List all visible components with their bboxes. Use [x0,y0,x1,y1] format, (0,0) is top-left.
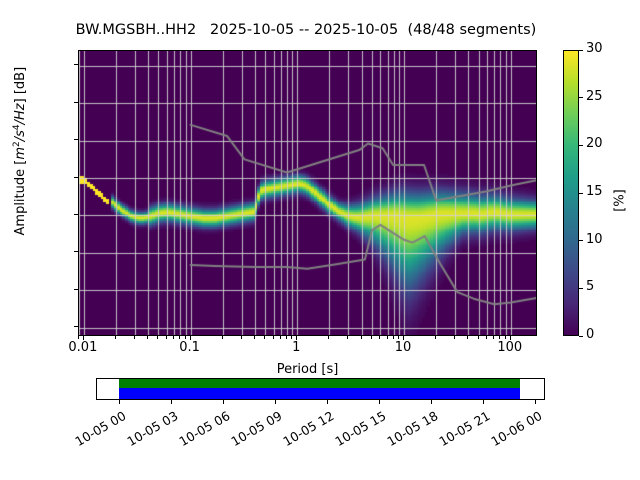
x-axis-minor-tick-mark [347,336,348,339]
x-axis-minor-tick-mark [185,336,186,339]
x-axis-minor-tick-mark [499,336,500,339]
x-axis-label: Period [s] [78,362,537,377]
colorbar-tick-label: 5 [586,279,594,294]
timeline-tick-mark [431,400,432,404]
x-axis-minor-tick-mark [280,336,281,339]
timeline-tick-mark [171,400,172,404]
timeline-segment-psd-coverage[interactable] [119,388,520,399]
x-axis-minor-tick-mark [134,336,135,339]
x-axis-minor-tick-mark [78,336,79,339]
x-axis-minor-tick-mark [371,336,372,339]
y-axis-tick-mark [74,102,78,103]
y-axis-tick-mark [74,177,78,178]
x-axis-tick-label: 0.1 [179,340,200,355]
x-axis-minor-tick-mark [493,336,494,339]
x-axis-minor-tick-mark [222,336,223,339]
timeline-tick-mark [379,400,380,404]
colorbar-tick-mark [579,193,583,194]
timeline-tick-mark [119,400,120,404]
colorbar-tick-label: 20 [586,136,603,151]
x-axis-minor-tick-mark [361,336,362,339]
x-axis-tick-label: 10 [395,340,412,355]
x-axis-minor-tick-mark [157,336,158,339]
colorbar-label: [%] [613,151,628,251]
y-axis-tick-mark [74,289,78,290]
x-axis-minor-tick-mark [435,336,436,339]
colorbar-tick-mark [579,50,583,51]
y-axis-label: Amplitude [m2/s4/Hz] [dB] [12,8,28,294]
timeline-coverage-bar[interactable] [96,378,545,400]
x-axis-minor-tick-mark [398,336,399,339]
colorbar-tick-label: 0 [586,327,594,342]
x-axis-minor-tick-mark [328,336,329,339]
colorbar-tick-label: 10 [586,232,603,247]
x-axis-minor-tick-mark [179,336,180,339]
x-axis-minor-tick-mark [166,336,167,339]
figure-canvas: BW.MGSBH..HH2 2025-10-05 -- 2025-10-05 (… [0,0,640,480]
timeline-tick-mark [223,400,224,404]
x-axis-minor-tick-mark [264,336,265,339]
x-axis-minor-tick-mark [241,336,242,339]
y-axis-tick-mark [74,326,78,327]
x-axis-minor-tick-mark [486,336,487,339]
timeline-tick-mark [483,400,484,404]
colorbar-tick-mark [579,288,583,289]
colorbar-tick-mark [579,240,583,241]
colorbar-tick-mark [579,145,583,146]
timeline-tick-mark [535,400,536,404]
x-axis-minor-tick-mark [173,336,174,339]
y-axis-tick-mark [74,214,78,215]
x-axis-minor-tick-mark [273,336,274,339]
colorbar-tick-label: 25 [586,89,603,104]
x-axis-minor-tick-mark [286,336,287,339]
y-axis-tick-mark [74,139,78,140]
x-axis-minor-tick-mark [505,336,506,339]
timeline-segment-data-coverage[interactable] [119,379,520,388]
page-title: BW.MGSBH..HH2 2025-10-05 -- 2025-10-05 (… [0,22,612,38]
x-axis-minor-tick-mark [393,336,394,339]
x-axis-minor-tick-mark [478,336,479,339]
x-axis-minor-tick-mark [379,336,380,339]
colorbar [563,50,579,336]
colorbar-tick-label: 15 [586,184,603,199]
peterson-noise-model-curves [79,51,537,336]
colorbar-gradient [564,51,578,335]
x-axis-tick-label: 100 [497,340,522,355]
x-axis-tick-label: 1 [292,340,300,355]
x-axis-minor-tick-mark [387,336,388,339]
x-axis-minor-tick-mark [254,336,255,339]
colorbar-tick-label: 30 [586,41,603,56]
y-axis-tick-mark [74,64,78,65]
x-axis-minor-tick-mark [454,336,455,339]
timeline-tick-mark [275,400,276,404]
timeline-tick-mark [327,400,328,404]
x-axis-minor-tick-mark [147,336,148,339]
y-axis-tick-mark [74,251,78,252]
x-axis-tick-label: 0.01 [68,340,97,355]
colorbar-tick-mark [579,336,583,337]
x-axis-minor-tick-mark [291,336,292,339]
x-axis-minor-tick-mark [467,336,468,339]
ppsd-plot-area [78,50,537,336]
colorbar-tick-mark [579,97,583,98]
x-axis-minor-tick-mark [115,336,116,339]
